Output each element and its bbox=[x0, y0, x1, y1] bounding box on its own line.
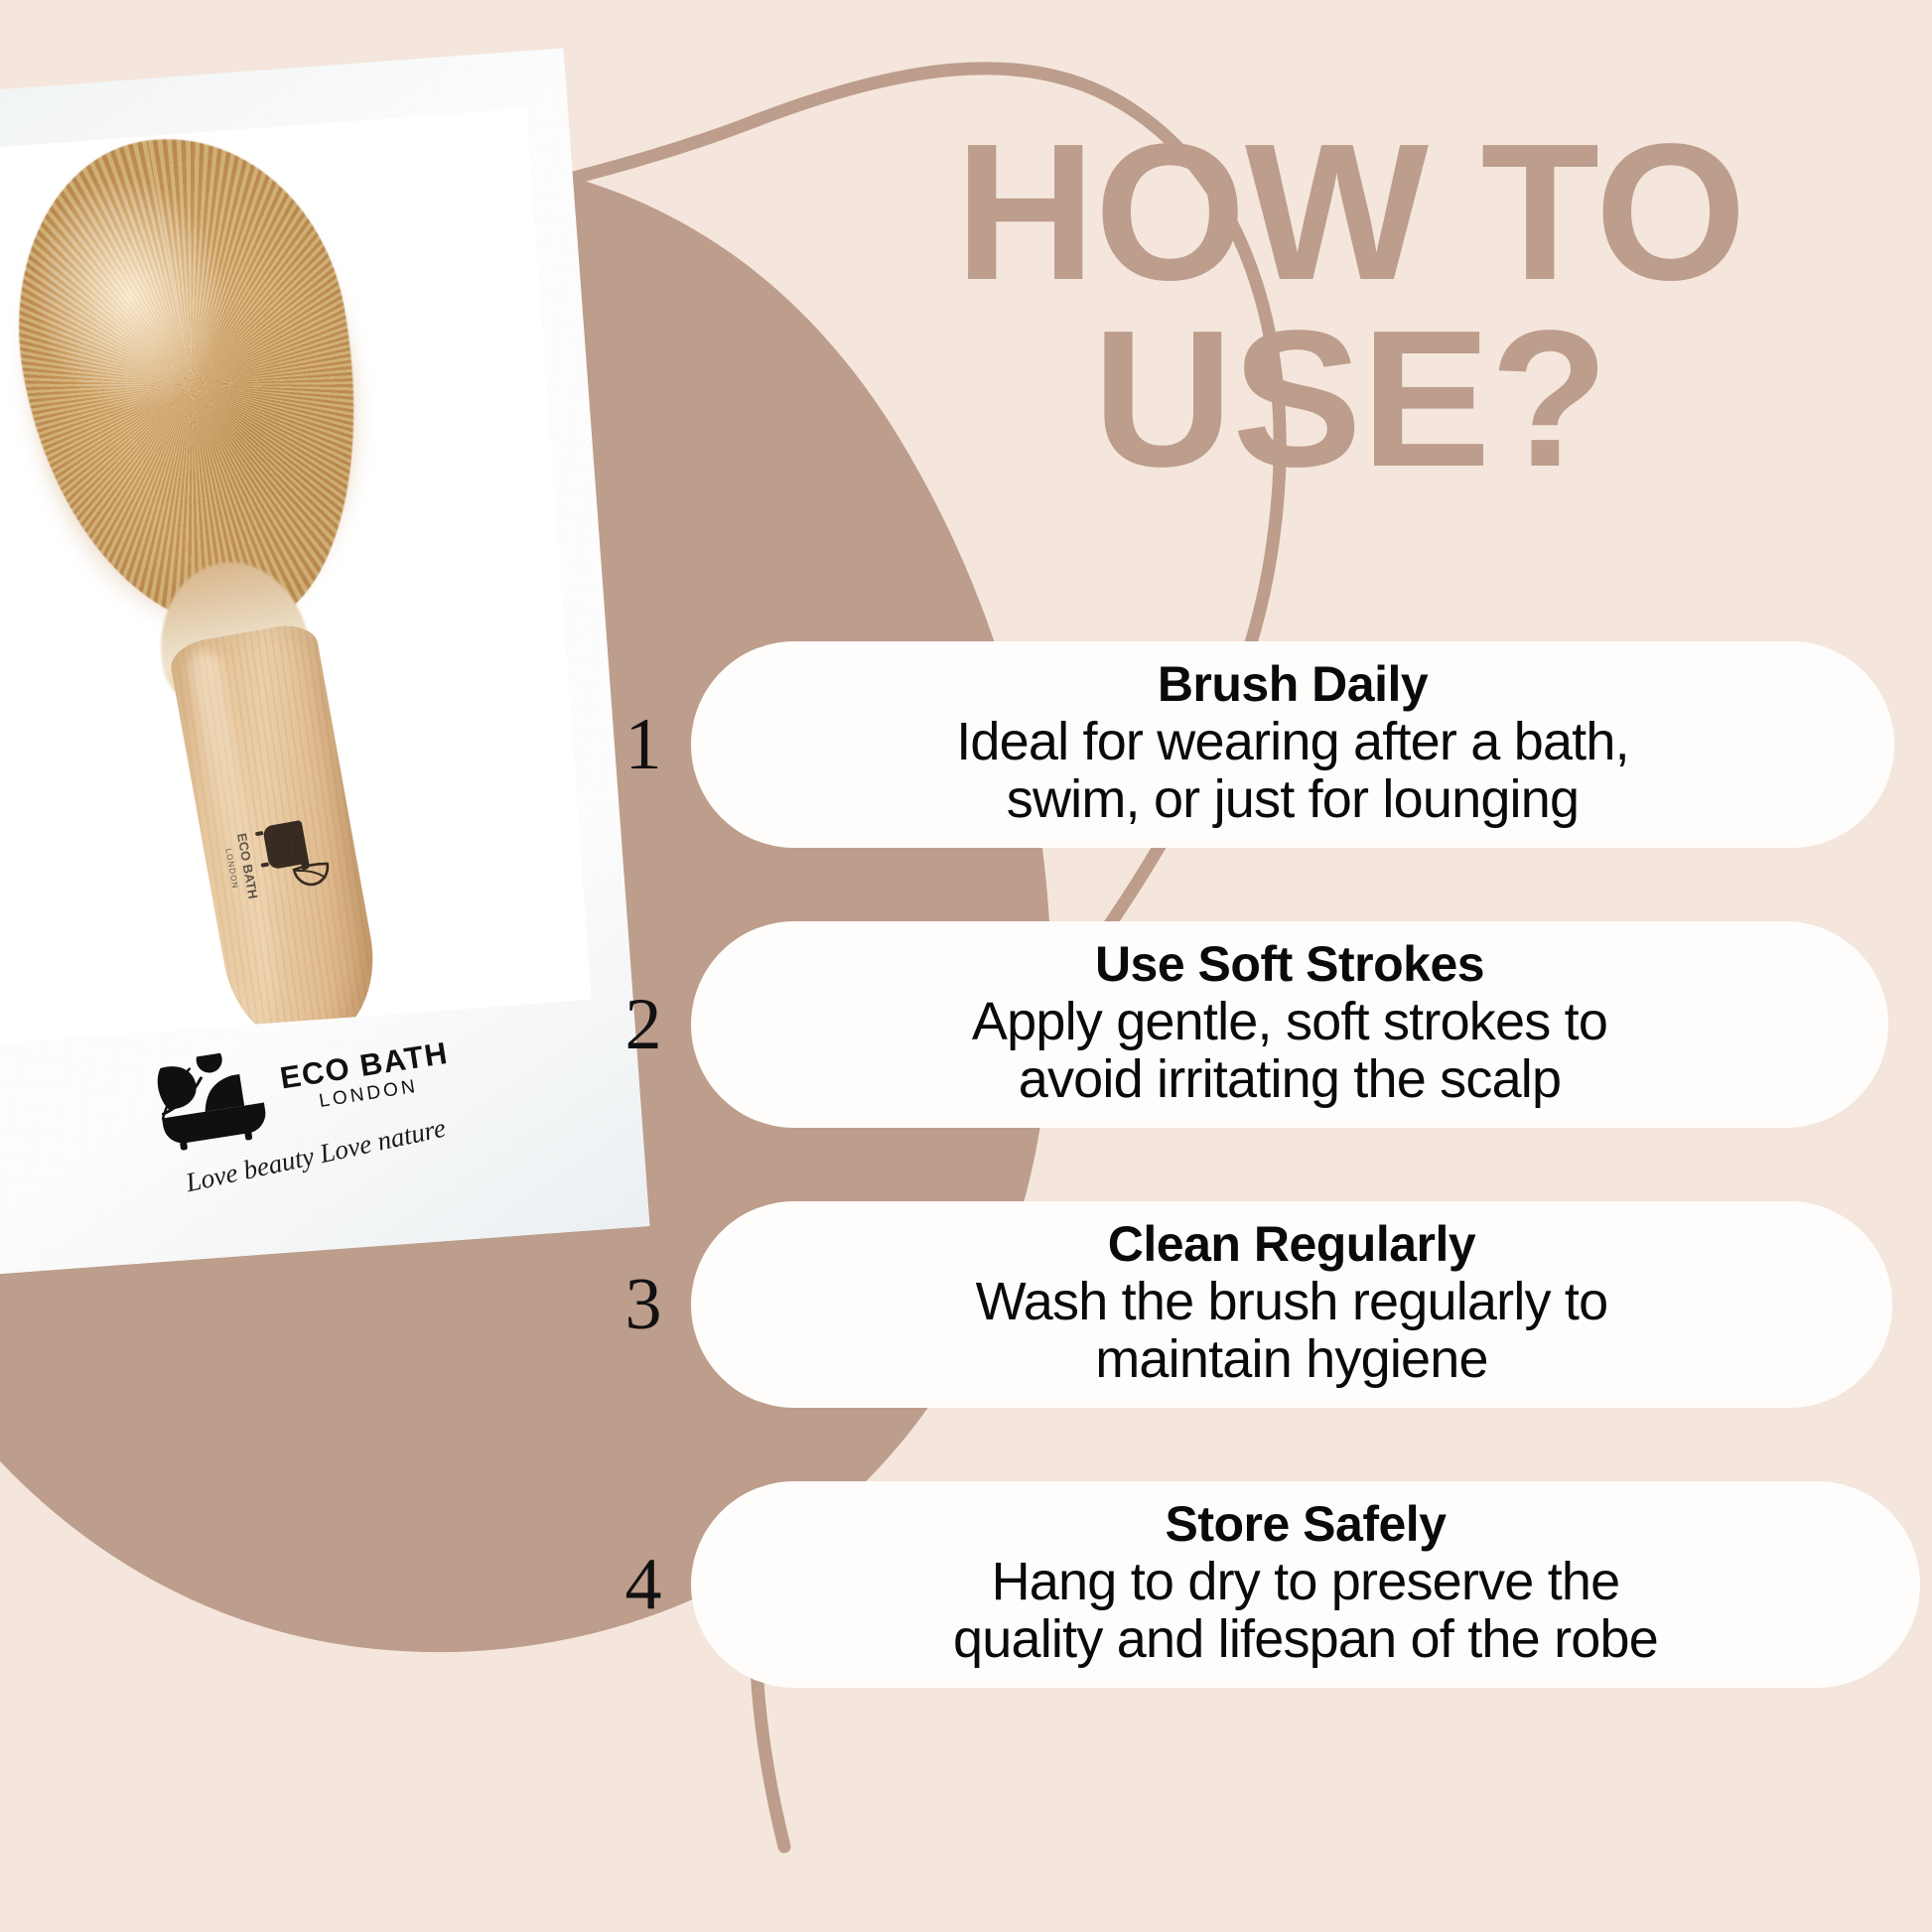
step-card[interactable]: Clean Regularly Wash the brush regularly… bbox=[691, 1201, 1892, 1409]
step-card[interactable]: Store Safely Hang to dry to preserve the… bbox=[691, 1481, 1920, 1689]
list-item: 1 Brush Daily Ideal for wearing after a … bbox=[596, 645, 1932, 844]
step-number: 4 bbox=[596, 1548, 691, 1621]
step-body-line-1: Wash the brush regularly to bbox=[976, 1272, 1608, 1331]
wooden-handle: ECO BATH LONDON bbox=[167, 620, 387, 1043]
handle-brand-stamp-icon: ECO BATH LONDON bbox=[211, 807, 345, 914]
step-number: 3 bbox=[596, 1268, 691, 1341]
step-card[interactable]: Brush Daily Ideal for wearing after a ba… bbox=[691, 641, 1894, 849]
step-body: Hang to dry to preserve the quality and … bbox=[737, 1553, 1874, 1669]
step-body: Apply gentle, soft strokes to avoid irri… bbox=[737, 993, 1843, 1109]
step-body-line-1: Apply gentle, soft strokes to bbox=[972, 992, 1607, 1051]
page-title-line-1: HOW TO bbox=[955, 103, 1745, 321]
list-item: 2 Use Soft Strokes Apply gentle, soft st… bbox=[596, 925, 1932, 1124]
step-body-line-2: maintain hygiene bbox=[1095, 1329, 1487, 1389]
step-body-line-1: Hang to dry to preserve the bbox=[992, 1552, 1620, 1611]
step-body: Wash the brush regularly to maintain hyg… bbox=[737, 1273, 1847, 1389]
bathtub-leaf-icon bbox=[146, 1046, 278, 1155]
list-item: 4 Store Safely Hang to dry to preserve t… bbox=[596, 1485, 1932, 1684]
step-body: Ideal for wearing after a bath, swim, or… bbox=[737, 713, 1849, 829]
step-title: Brush Daily bbox=[737, 657, 1849, 711]
step-body-line-2: avoid irritating the scalp bbox=[1019, 1049, 1562, 1109]
brand-logo-wordmark: ECO BATH LONDON bbox=[278, 1037, 454, 1116]
handle-brand-name: ECO BATH bbox=[234, 832, 261, 900]
product-photo-image: ECO BATH LONDON bbox=[0, 108, 592, 1043]
step-body-line-2: quality and lifespan of the robe bbox=[953, 1609, 1658, 1669]
step-title: Store Safely bbox=[737, 1497, 1874, 1551]
infographic-canvas: ECO BATH LONDON bbox=[0, 0, 1932, 1932]
step-number: 2 bbox=[596, 988, 691, 1061]
page-title-line-2: USE? bbox=[794, 306, 1906, 492]
step-title: Use Soft Strokes bbox=[737, 937, 1843, 991]
product-photo-card: ECO BATH LONDON bbox=[0, 48, 650, 1276]
step-title: Clean Regularly bbox=[737, 1217, 1847, 1271]
step-card[interactable]: Use Soft Strokes Apply gentle, soft stro… bbox=[691, 921, 1888, 1129]
body-brush-illustration: ECO BATH LONDON bbox=[0, 108, 551, 1043]
step-body-line-1: Ideal for wearing after a bath, bbox=[956, 712, 1629, 771]
handle-brand-location: LONDON bbox=[223, 848, 239, 890]
page-title: HOW TO USE? bbox=[794, 119, 1906, 492]
list-item: 3 Clean Regularly Wash the brush regular… bbox=[596, 1205, 1932, 1404]
step-body-line-2: swim, or just for lounging bbox=[1007, 769, 1579, 829]
steps-list: 1 Brush Daily Ideal for wearing after a … bbox=[596, 645, 1932, 1765]
step-number: 1 bbox=[596, 708, 691, 781]
